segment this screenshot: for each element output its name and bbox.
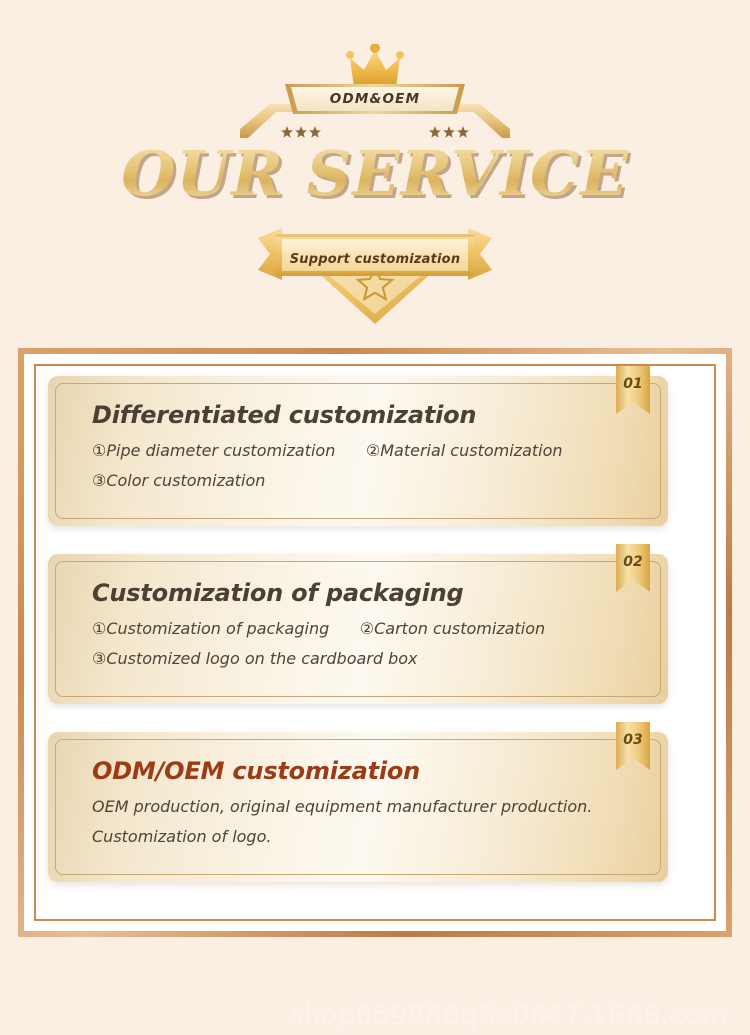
service-card-body: Differentiated customization ①Pipe diame… [55, 383, 661, 519]
service-card-title: ODM/OEM customization [92, 756, 636, 786]
shop-watermark: shop659980q6e0647.1688.com [289, 1000, 728, 1031]
service-card-lines: ①Pipe diameter customization ②Material c… [92, 436, 636, 496]
poster-page: ODM&OEM OUR SERVICE [0, 0, 750, 1035]
service-card-lines: OEM production, original equipment manuf… [92, 792, 636, 852]
card-number: 01 [616, 372, 650, 396]
service-card-title: Differentiated customization [92, 400, 636, 430]
service-card-line: Customization of logo. [92, 822, 636, 852]
support-ribbon: Support customization [258, 228, 492, 328]
star-icon [281, 126, 321, 138]
service-card[interactable]: Customization of packaging ①Customizatio… [48, 554, 668, 704]
star-icon [429, 126, 469, 138]
service-card-line: ③Customized logo on the cardboard box [92, 644, 636, 674]
service-card-line: ①Pipe diameter customization ②Material c… [92, 436, 636, 466]
card-number: 03 [616, 728, 650, 752]
service-card[interactable]: ODM/OEM customization OEM production, or… [48, 732, 668, 882]
card-number-badge: 02 [616, 544, 650, 596]
service-card-body: Customization of packaging ①Customizatio… [55, 561, 661, 697]
service-card-line: OEM production, original equipment manuf… [92, 792, 636, 822]
card-number-badge: 01 [616, 366, 650, 418]
service-card-body: ODM/OEM customization OEM production, or… [55, 739, 661, 875]
emblem-banner-label: ODM&OEM [285, 84, 465, 114]
service-card-line: ①Customization of packaging ②Carton cust… [92, 614, 636, 644]
service-card[interactable]: Differentiated customization ①Pipe diame… [48, 376, 668, 526]
service-card-line: ③Color customization [92, 466, 636, 496]
service-card-lines: ①Customization of packaging ②Carton cust… [92, 614, 636, 674]
card-number-badge: 03 [616, 722, 650, 774]
card-number: 02 [616, 550, 650, 574]
emblem-banner: ODM&OEM [285, 84, 465, 114]
service-card-title: Customization of packaging [92, 578, 636, 608]
support-ribbon-label: Support customization [258, 246, 492, 272]
service-card-list: Differentiated customization ①Pipe diame… [48, 376, 700, 906]
page-title: OUR SERVICE [0, 141, 750, 206]
emblem: ODM&OEM [0, 44, 750, 144]
